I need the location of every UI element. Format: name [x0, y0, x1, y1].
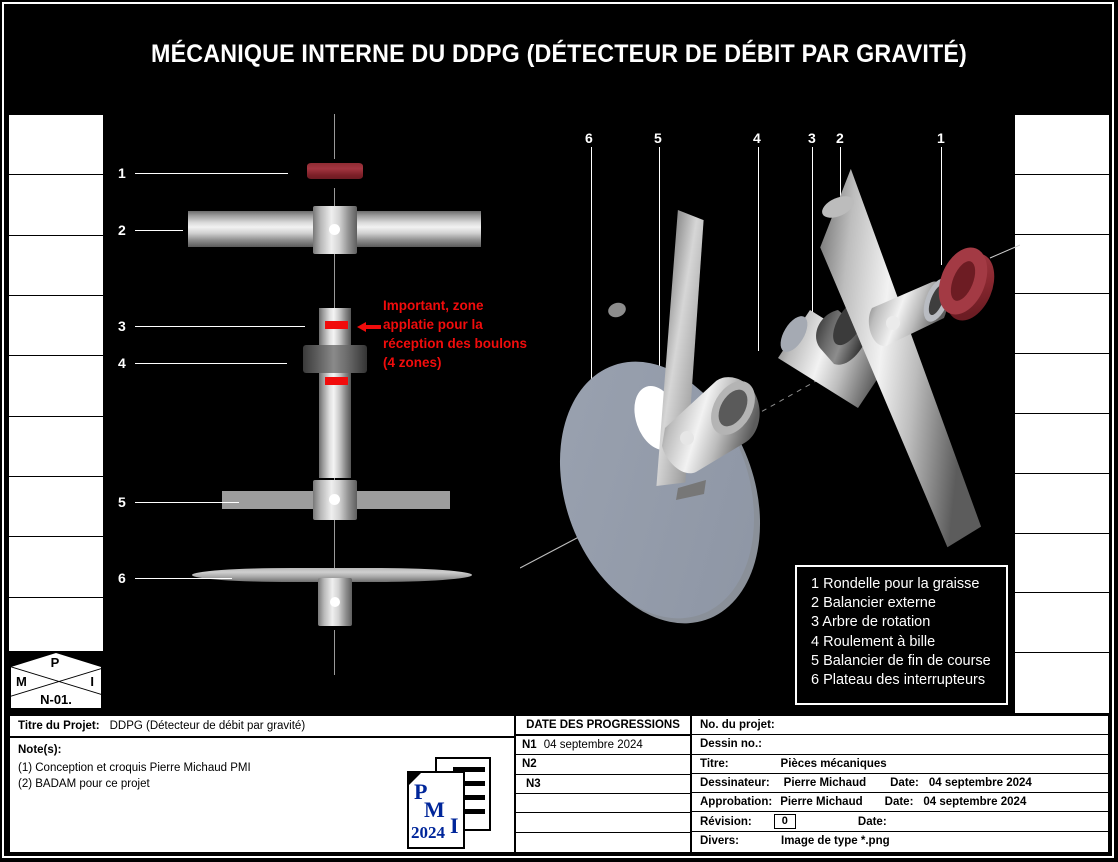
- notes-label: Note(s):: [18, 744, 514, 756]
- annotation-arrow-icon: [357, 320, 381, 332]
- pmi-letter-i: I: [450, 813, 459, 839]
- left-margin-grid: [8, 114, 104, 659]
- progress-key: N3: [526, 778, 541, 790]
- approval-date-value: 04 septembre 2024: [923, 796, 1026, 808]
- misc-row: Divers: Image de type *.png: [692, 832, 1108, 851]
- drafter-value: Pierre Michaud: [784, 777, 866, 789]
- drawing-sheet: MÉCANIQUE INTERNE DU DDPG (DÉTECTEUR DE …: [0, 0, 1118, 862]
- legend-item: 6 Plateau des interrupteurs: [811, 671, 1006, 690]
- drawing-details-column: No. du projet: Dessin no.: Titre: Pièces…: [692, 716, 1108, 852]
- drawing-title-value: Pièces mécaniques: [781, 758, 887, 770]
- callout-6-iso: 6: [585, 130, 593, 146]
- stamp-letter-p: P: [51, 655, 60, 670]
- pmi-year: 2024: [411, 823, 445, 843]
- leader-line-1: [135, 173, 288, 174]
- part-washer-grease: [307, 163, 363, 179]
- parts-legend: 1 Rondelle pour la graisse 2 Balancier e…: [795, 565, 1008, 705]
- progress-row: N3: [516, 775, 690, 794]
- callout-4-iso: 4: [753, 130, 761, 146]
- project-title-value: DDPG (Détecteur de débit par gravité): [110, 720, 306, 732]
- revision-row: Révision: 0 Date:: [692, 812, 1108, 831]
- approval-label: Approbation:: [700, 796, 772, 808]
- progress-row: [516, 813, 690, 832]
- progress-header: DATE DES PROGRESSIONS: [516, 716, 690, 736]
- pmi-document-icon: P M I 2024: [405, 757, 493, 851]
- progress-row: [516, 833, 690, 852]
- part-arbre-rotation: [319, 308, 351, 478]
- callout-1-iso: 1: [937, 130, 945, 146]
- leader-line-3: [135, 326, 305, 327]
- callout-6-flat: 6: [118, 570, 126, 586]
- drawing-no-row: Dessin no.:: [692, 735, 1108, 754]
- stamp-sheet-code: N-01.: [40, 692, 72, 707]
- legend-list: 1 Rondelle pour la graisse 2 Balancier e…: [811, 575, 1006, 690]
- revision-date-label: Date:: [858, 816, 887, 828]
- progress-row: N1 04 septembre 2024: [516, 736, 690, 755]
- center-axis-5: [334, 518, 335, 568]
- project-title-label: Titre du Projet:: [18, 720, 100, 732]
- misc-label: Divers:: [700, 835, 739, 847]
- misc-value: Image de type *.png: [781, 835, 890, 847]
- part-balancier-externe-hole: [329, 224, 340, 235]
- part-plateau-hole: [330, 597, 340, 607]
- revision-label: Révision:: [700, 816, 752, 828]
- pmi-letter-m: M: [424, 797, 445, 823]
- progress-row: [516, 794, 690, 813]
- legend-item: 2 Balancier externe: [811, 594, 1006, 613]
- drafter-row: Dessinateur: Pierre Michaud Date: 04 sep…: [692, 774, 1108, 793]
- drawing-no-label: Dessin no.:: [700, 738, 762, 750]
- progress-value: 04 septembre 2024: [544, 739, 643, 751]
- callout-4-flat: 4: [118, 355, 126, 371]
- legend-item: 1 Rondelle pour la graisse: [811, 575, 1006, 594]
- flat-zone-lower: [325, 377, 348, 385]
- revision-value-box[interactable]: 0: [774, 814, 796, 829]
- stamp-letter-m: M: [16, 674, 27, 689]
- leader-line-5: [135, 502, 239, 503]
- drafter-date-value: 04 septembre 2024: [929, 777, 1032, 789]
- page-title: MÉCANIQUE INTERNE DU DDPG (DÉTECTEUR DE …: [39, 40, 1079, 69]
- callout-2-iso: 2: [836, 130, 844, 146]
- flat-zone-upper: [325, 321, 348, 329]
- leader-line-4: [135, 363, 287, 364]
- part-roulement-bille: [303, 345, 367, 373]
- project-no-label: No. du projet:: [700, 719, 775, 731]
- drafter-label: Dessinateur:: [700, 777, 770, 789]
- drawing-title-row: Titre: Pièces mécaniques: [692, 755, 1108, 774]
- drafter-date-label: Date:: [890, 777, 919, 789]
- approval-date-label: Date:: [885, 796, 914, 808]
- center-axis-1: [334, 114, 335, 159]
- legend-item: 3 Arbre de rotation: [811, 613, 1006, 632]
- progress-dates-column: DATE DES PROGRESSIONS N1 04 septembre 20…: [516, 716, 692, 852]
- center-axis-3: [334, 252, 335, 314]
- part-balancier-fin-course-hole: [329, 494, 340, 505]
- center-axis-6: [334, 630, 335, 675]
- project-no-row: No. du projet:: [692, 716, 1108, 735]
- legend-item: 4 Roulement à bille: [811, 633, 1006, 652]
- approval-row: Approbation: Pierre Michaud Date: 04 sep…: [692, 793, 1108, 812]
- title-block: Titre du Projet: DDPG (Détecteur de débi…: [8, 714, 1110, 854]
- progress-key: N1: [522, 739, 537, 751]
- drawing-title-label: Titre:: [700, 758, 729, 770]
- progress-row: N2: [516, 755, 690, 774]
- right-margin-grid: [1014, 114, 1110, 714]
- callout-5-flat: 5: [118, 494, 126, 510]
- center-axis-2: [334, 188, 335, 208]
- approval-value: Pierre Michaud: [780, 796, 862, 808]
- progress-key: N2: [522, 758, 537, 770]
- stamp-letter-i: I: [90, 674, 94, 689]
- legend-item: 5 Balancier de fin de course: [811, 652, 1006, 671]
- sheet-stamp-logo: P M I N-01.: [9, 651, 103, 710]
- callout-5-iso: 5: [654, 130, 662, 146]
- callout-2-flat: 2: [118, 222, 126, 238]
- leader-line-6: [135, 578, 232, 579]
- leader-line-2: [135, 230, 183, 231]
- project-title-row: Titre du Projet: DDPG (Détecteur de débi…: [10, 716, 514, 738]
- callout-1-flat: 1: [118, 165, 126, 181]
- callout-3-iso: 3: [808, 130, 816, 146]
- callout-3-flat: 3: [118, 318, 126, 334]
